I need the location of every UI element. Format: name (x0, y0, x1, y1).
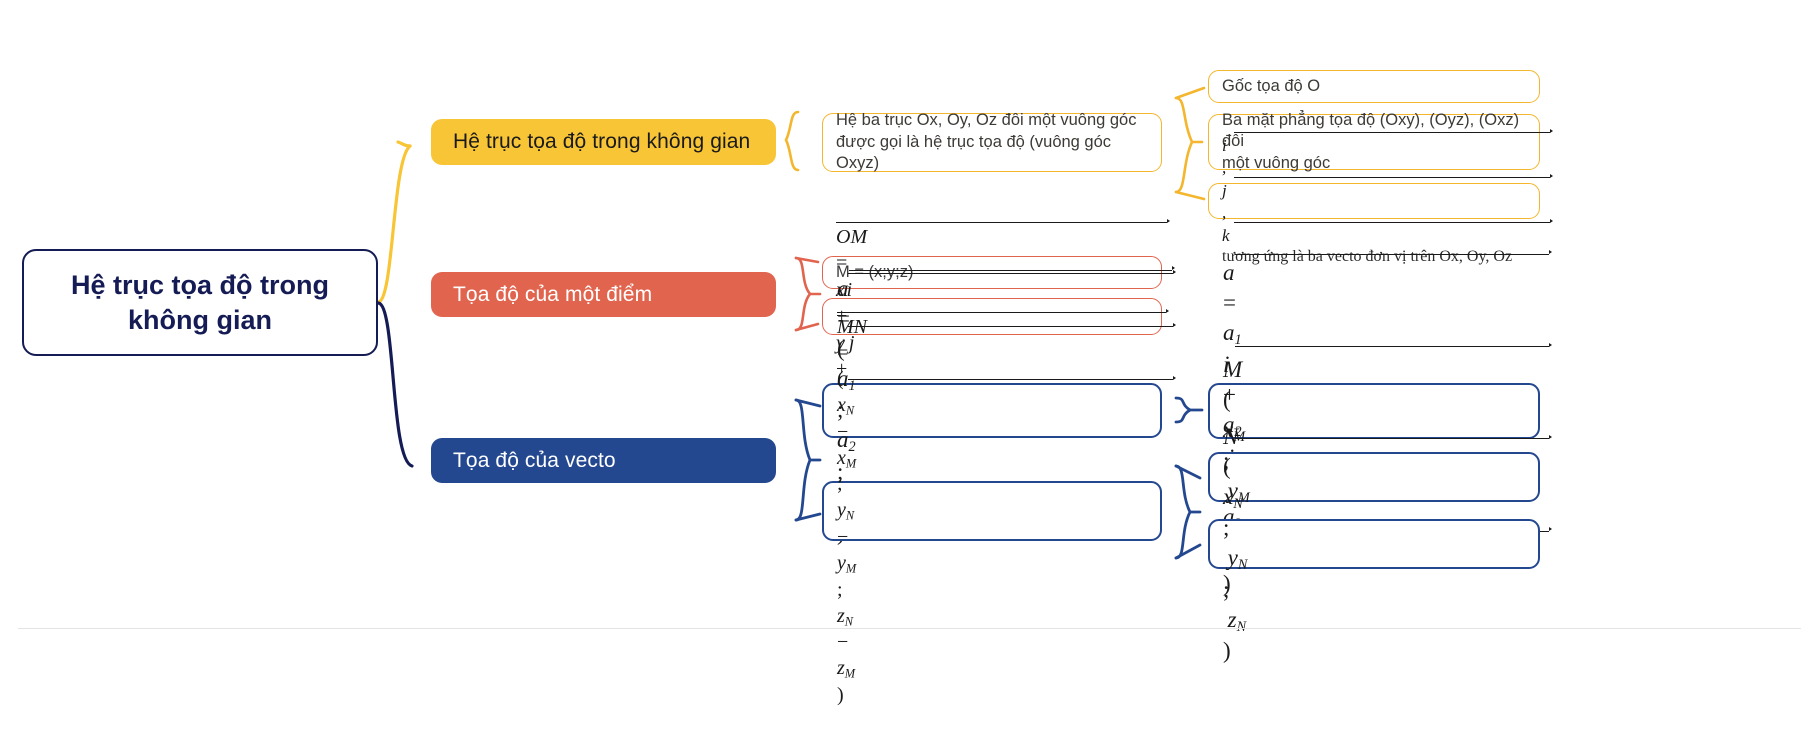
leaf-goc-toa-do[interactable]: Gốc tọa độ O (1208, 70, 1540, 103)
leaf-vecto-don-vi[interactable]: i, j, k tương ứng là ba vecto đơn vị trê… (1208, 183, 1540, 219)
leaf-vecto-don-vi-math: i, j, k (1222, 134, 1526, 247)
branch-toa-do-mot-diem-label: Tọa độ của một điểm (453, 283, 754, 307)
detail-he-truc-toa-do[interactable]: Hệ ba trục Ox, Oy, Oz đôi một vuông góc … (822, 113, 1162, 172)
branch-toa-do-vecto[interactable]: Tọa độ của vecto (431, 438, 776, 483)
leaf-diem-N-coords-math: N(xN; yN; zN) (1223, 422, 1525, 666)
detail-he-truc-line2: được gọi là hệ trục tọa độ (vuông góc Ox… (836, 132, 1148, 175)
detail-he-truc-line1: Hệ ba trục Ox, Oy, Oz đôi một vuông góc (836, 110, 1148, 131)
branch-he-truc-toa-do-label: Hệ trục tọa độ trong không gian (453, 130, 754, 154)
item-vecto-MN-math: MN = (xN − xM;yN − yM;zN − zM) (837, 314, 1147, 708)
item-vecto-MN[interactable]: MN = (xN − xM;yN − yM;zN − zM) (822, 481, 1162, 541)
root-label-line1: Hệ trục tọa độ trong (38, 268, 362, 303)
branch-toa-do-vecto-label: Tọa độ của vecto (453, 449, 754, 473)
branch-he-truc-toa-do[interactable]: Hệ trục tọa độ trong không gian (431, 119, 776, 165)
leaf-goc-toa-do-label: Gốc tọa độ O (1222, 76, 1526, 97)
root-label-line2: không gian (38, 303, 362, 338)
footer-divider (18, 628, 1801, 629)
leaf-diem-N-coords[interactable]: N(xN; yN; zN) (1208, 519, 1540, 569)
root-node[interactable]: Hệ trục tọa độ trong không gian (22, 249, 378, 356)
branch-toa-do-mot-diem[interactable]: Tọa độ của một điểm (431, 272, 776, 317)
